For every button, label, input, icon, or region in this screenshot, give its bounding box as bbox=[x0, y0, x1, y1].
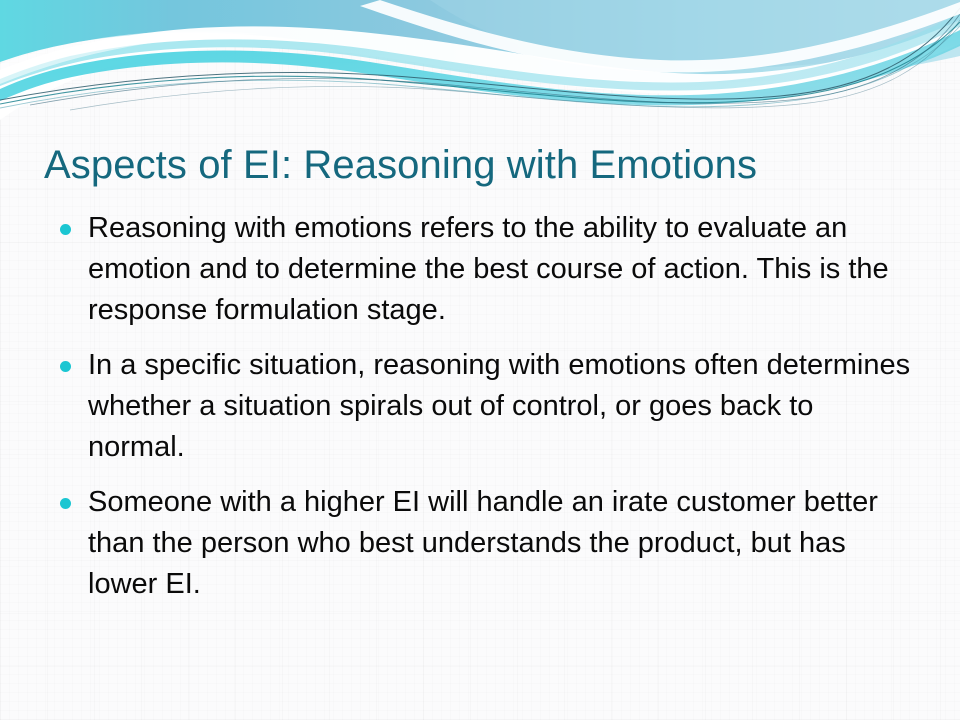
bullet-item-text: Reasoning with emotions refers to the ab… bbox=[88, 208, 914, 331]
slide-body-bullet-list: Reasoning with emotions refers to the ab… bbox=[52, 208, 914, 605]
slide-title: Aspects of EI: Reasoning with Emotions bbox=[44, 140, 924, 190]
wave-banner-decoration bbox=[0, 0, 960, 120]
bullet-item-text: Someone with a higher EI will handle an … bbox=[88, 482, 914, 605]
bullet-dot-icon bbox=[60, 224, 71, 235]
bullet-dot-icon bbox=[60, 361, 71, 372]
bullet-list-item: Someone with a higher EI will handle an … bbox=[52, 482, 914, 605]
bullet-list-item: In a specific situation, reasoning with … bbox=[52, 345, 914, 468]
presentation-slide: Aspects of EI: Reasoning with Emotions R… bbox=[0, 0, 960, 720]
bullet-item-text: In a specific situation, reasoning with … bbox=[88, 345, 914, 468]
bullet-dot-icon bbox=[60, 498, 71, 509]
bullet-list-item: Reasoning with emotions refers to the ab… bbox=[52, 208, 914, 331]
